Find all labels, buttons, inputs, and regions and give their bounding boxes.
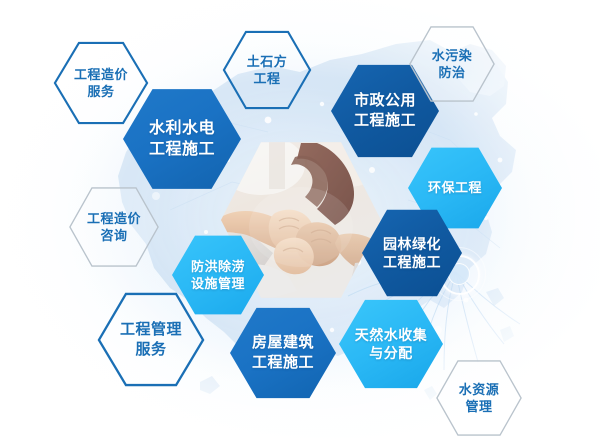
hex-label-group: 工程造价 咨询 — [87, 210, 141, 244]
hex-label-group: 工程管理 服务 — [120, 320, 182, 360]
hex-label-group: 水利水电 工程施工 — [149, 118, 215, 160]
hex-label-line-2: 工程施工 — [252, 353, 314, 373]
hex-label-line-1: 环保工程 — [428, 179, 482, 196]
hex-label-line-1: 工程管理 — [120, 320, 182, 340]
hex-label-line-1: 水污染 — [432, 47, 473, 64]
hex-label-group: 工程造价 服务 — [74, 66, 128, 100]
hex-label-group: 水污染 防治 — [432, 47, 473, 81]
hex-label-line-1: 土石方 — [247, 53, 288, 70]
hex-label-line-1: 天然水收集 — [355, 326, 428, 344]
hex-label-line-1: 水资源 — [459, 381, 500, 398]
hex-label-line-2: 防治 — [432, 64, 473, 81]
hex-label-line-2: 设施管理 — [191, 275, 245, 292]
hex-water-pollution-control[interactable]: 水污染 防治 — [408, 25, 496, 103]
hex-label-group: 土石方 工程 — [247, 53, 288, 87]
hex-label-group: 防洪除涝 设施管理 — [191, 258, 245, 292]
hex-label-line-2: 工程施工 — [383, 253, 441, 271]
hex-label-line-1: 市政公用 — [354, 91, 416, 111]
hex-label-line-2: 与分配 — [355, 344, 428, 362]
hex-label-group: 天然水收集 与分配 — [355, 326, 428, 363]
hex-label-line-2: 工程施工 — [149, 139, 215, 160]
hex-label-group: 房屋建筑 工程施工 — [252, 333, 314, 373]
poster-canvas: 工程造价 服务 土石方 工程 水利水电 工程施工 市政公用 工程施工 水污染 — [0, 0, 600, 439]
hex-label-line-1: 工程造价 — [74, 66, 128, 83]
hex-label-line-2: 工程施工 — [354, 111, 416, 131]
hex-engineering-management-service[interactable]: 工程管理 服务 — [97, 292, 205, 387]
hex-water-resources-management[interactable]: 水资源 管理 — [435, 359, 523, 437]
hex-label-group: 园林绿化 工程施工 — [383, 235, 441, 272]
hex-label-line-2: 管理 — [459, 398, 500, 415]
hex-label-line-1: 房屋建筑 — [252, 333, 314, 353]
hex-label-line-2: 咨询 — [87, 227, 141, 244]
hex-earthwork-engineering[interactable]: 土石方 工程 — [222, 30, 312, 110]
hex-label-group: 市政公用 工程施工 — [354, 91, 416, 131]
hex-label-line-2: 服务 — [120, 340, 182, 360]
hex-engineering-cost-consulting[interactable]: 工程造价 咨询 — [68, 186, 160, 268]
hex-label-group: 水资源 管理 — [459, 381, 500, 415]
hex-label-line-1: 水利水电 — [149, 118, 215, 139]
hex-label-line-2: 服务 — [74, 83, 128, 100]
hex-engineering-cost-service[interactable]: 工程造价 服务 — [53, 41, 149, 125]
hex-label-line-1: 防洪除涝 — [191, 258, 245, 275]
hex-label-group: 环保工程 — [428, 179, 482, 196]
hex-label-line-2: 工程 — [247, 70, 288, 87]
hex-label-line-1: 园林绿化 — [383, 235, 441, 253]
hex-label-line-1: 工程造价 — [87, 210, 141, 227]
